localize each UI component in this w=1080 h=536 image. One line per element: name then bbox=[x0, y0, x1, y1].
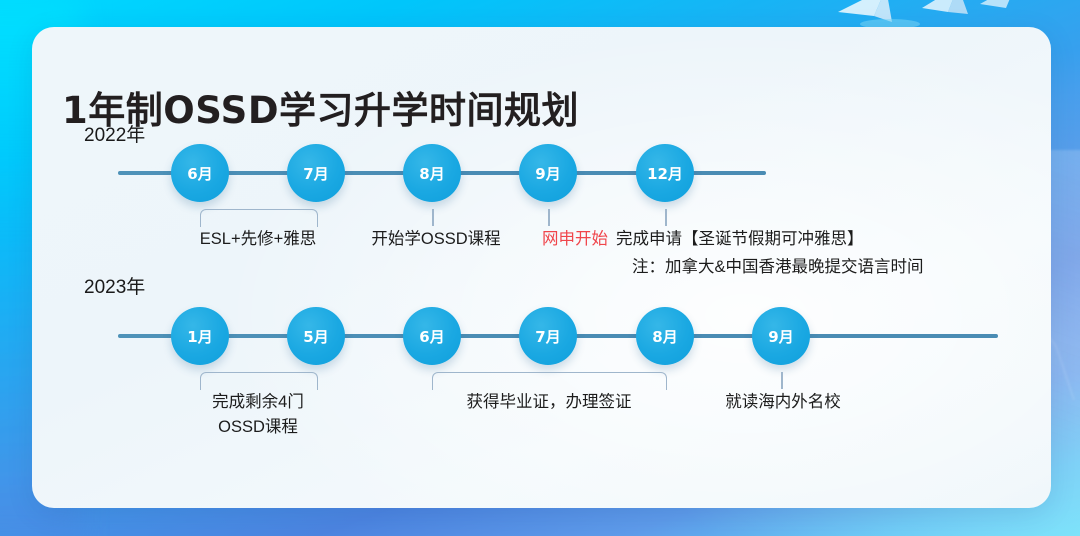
timeline-bracket-2023-0 bbox=[200, 372, 318, 390]
year-label-2022: 2022年 bbox=[84, 120, 145, 147]
timeline-caption-2022-3: 完成申请【圣诞节假期可冲雅思】 bbox=[616, 227, 956, 252]
node-label: 1月 bbox=[187, 326, 212, 347]
node-label: 6月 bbox=[187, 163, 212, 184]
timeline-caption-2023-0: 完成剩余4门 OSSD课程 bbox=[178, 390, 338, 440]
timeline-node-2022-0[interactable]: 6月 bbox=[171, 144, 229, 202]
node-label: 5月 bbox=[303, 326, 328, 347]
node-label: 8月 bbox=[652, 326, 677, 347]
poster-canvas: 1年制OSSD学习升学时间规划 2022年 6月 7月 8月 9月 12月 bbox=[0, 0, 1080, 536]
node-label: 12月 bbox=[647, 163, 683, 184]
node-label: 9月 bbox=[768, 326, 793, 347]
timeline-node-2022-1[interactable]: 7月 bbox=[287, 144, 345, 202]
timeline-node-2022-2[interactable]: 8月 bbox=[403, 144, 461, 202]
timeline-bracket-2022-0 bbox=[200, 209, 318, 227]
timeline-caption-2023-1: 获得毕业证，办理签证 bbox=[438, 390, 660, 415]
timeline-tick-2022-9 bbox=[548, 209, 550, 226]
timeline-node-2023-5[interactable]: 9月 bbox=[752, 307, 810, 365]
timeline-tick-2022-12 bbox=[665, 209, 667, 226]
timeline-node-2023-2[interactable]: 6月 bbox=[403, 307, 461, 365]
timeline-bracket-2023-1 bbox=[432, 372, 667, 390]
timeline-caption-2022-2: 网申开始 bbox=[520, 227, 630, 252]
timeline-tick-2023-9 bbox=[781, 372, 783, 389]
node-label: 7月 bbox=[535, 326, 560, 347]
timeline-node-2022-4[interactable]: 12月 bbox=[636, 144, 694, 202]
timeline-node-2023-1[interactable]: 5月 bbox=[287, 307, 345, 365]
timeline-caption-2022-0: ESL+先修+雅思 bbox=[158, 227, 358, 252]
node-label: 8月 bbox=[419, 163, 444, 184]
year-label-2023: 2023年 bbox=[84, 272, 145, 299]
node-label: 7月 bbox=[303, 163, 328, 184]
timeline-caption-2022-4: 注：加拿大&中国香港最晚提交语言时间 bbox=[632, 255, 992, 280]
timeline-node-2023-4[interactable]: 8月 bbox=[636, 307, 694, 365]
node-label: 9月 bbox=[535, 163, 560, 184]
timeline-caption-2022-1: 开始学OSSD课程 bbox=[336, 227, 536, 252]
node-label: 6月 bbox=[419, 326, 444, 347]
timeline-node-2023-3[interactable]: 7月 bbox=[519, 307, 577, 365]
timeline-tick-2022-8 bbox=[432, 209, 434, 226]
content-card: 1年制OSSD学习升学时间规划 2022年 6月 7月 8月 9月 12月 bbox=[32, 27, 1051, 508]
timeline-caption-2023-2: 就读海内外名校 bbox=[690, 390, 876, 415]
timeline-node-2023-0[interactable]: 1月 bbox=[171, 307, 229, 365]
timeline-node-2022-3[interactable]: 9月 bbox=[519, 144, 577, 202]
